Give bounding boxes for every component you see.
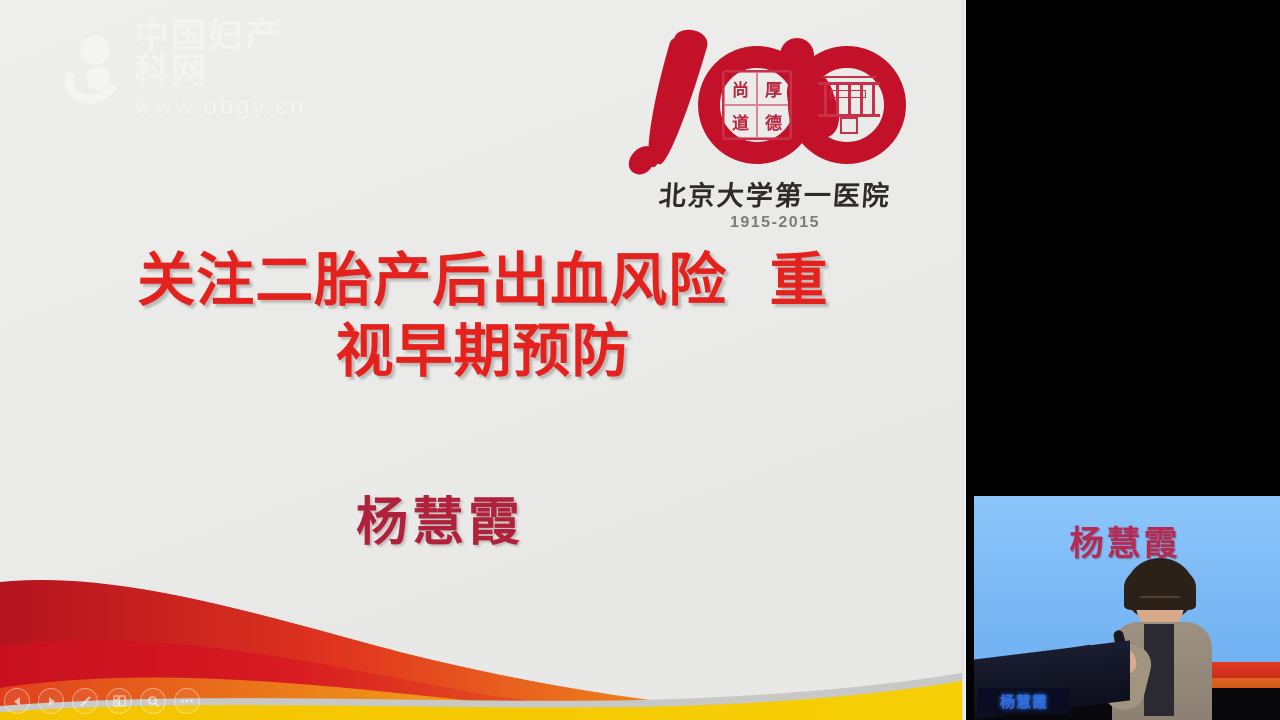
magnifier-icon[interactable]	[140, 688, 166, 714]
video-top-border	[970, 492, 1280, 496]
grid-layout-icon[interactable]	[106, 688, 132, 714]
slide-title: 关注二胎产后出血风险 重 视早期预防	[0, 245, 966, 387]
podium-name-placard: 杨慧霞	[978, 688, 1070, 714]
speaker-video-panel[interactable]: 杨慧霞 杨慧霞	[970, 492, 1280, 720]
logo-numeral-100: 尚 厚 道 德	[640, 22, 910, 174]
logo-years: 1915-2015	[640, 214, 910, 232]
presentation-player: 中国妇产科网 www.obgy.cn 尚 厚 道 德	[0, 0, 1280, 720]
classical-building-icon	[816, 68, 882, 134]
site-watermark: 中国妇产科网 www.obgy.cn	[62, 28, 312, 110]
player-right-letterbox	[966, 0, 1280, 492]
pen-icon[interactable]	[72, 688, 98, 714]
slide-canvas[interactable]: 中国妇产科网 www.obgy.cn 尚 厚 道 德	[0, 0, 966, 720]
player-toolbar[interactable]	[4, 686, 200, 716]
previous-icon[interactable]	[4, 688, 30, 714]
video-left-border	[970, 492, 974, 720]
presenter-glasses	[1140, 596, 1180, 604]
seal-char-2: 厚	[757, 72, 790, 105]
seal-char-4: 德	[757, 105, 790, 138]
watermark-text: 中国妇产科网 www.obgy.cn	[134, 20, 312, 119]
slide-title-line-2: 视早期预防	[0, 316, 966, 387]
hospital-centenary-logo: 尚 厚 道 德 北京大学第一医院	[640, 22, 910, 237]
watermark-url: www.obgy.cn	[134, 95, 312, 119]
slide-right-edge	[962, 0, 966, 720]
watermark-arc-shape	[57, 46, 127, 111]
slide-speaker-name: 杨慧霞	[0, 480, 880, 555]
slide-title-line-1: 关注二胎产后出血风险 重	[0, 245, 966, 316]
podium-placard-text: 杨慧霞	[1000, 691, 1048, 712]
mother-and-baby-icon	[62, 33, 124, 105]
seal-char-3: 道	[724, 105, 757, 138]
seal-char-1: 尚	[724, 72, 757, 105]
watermark-site-name: 中国妇产科网	[134, 20, 312, 90]
ellipsis-icon[interactable]	[174, 688, 200, 714]
logo-motto-seal: 尚 厚 道 德	[722, 70, 792, 140]
play-icon[interactable]	[38, 688, 64, 714]
logo-institution-name: 北京大学第一医院	[639, 174, 912, 213]
